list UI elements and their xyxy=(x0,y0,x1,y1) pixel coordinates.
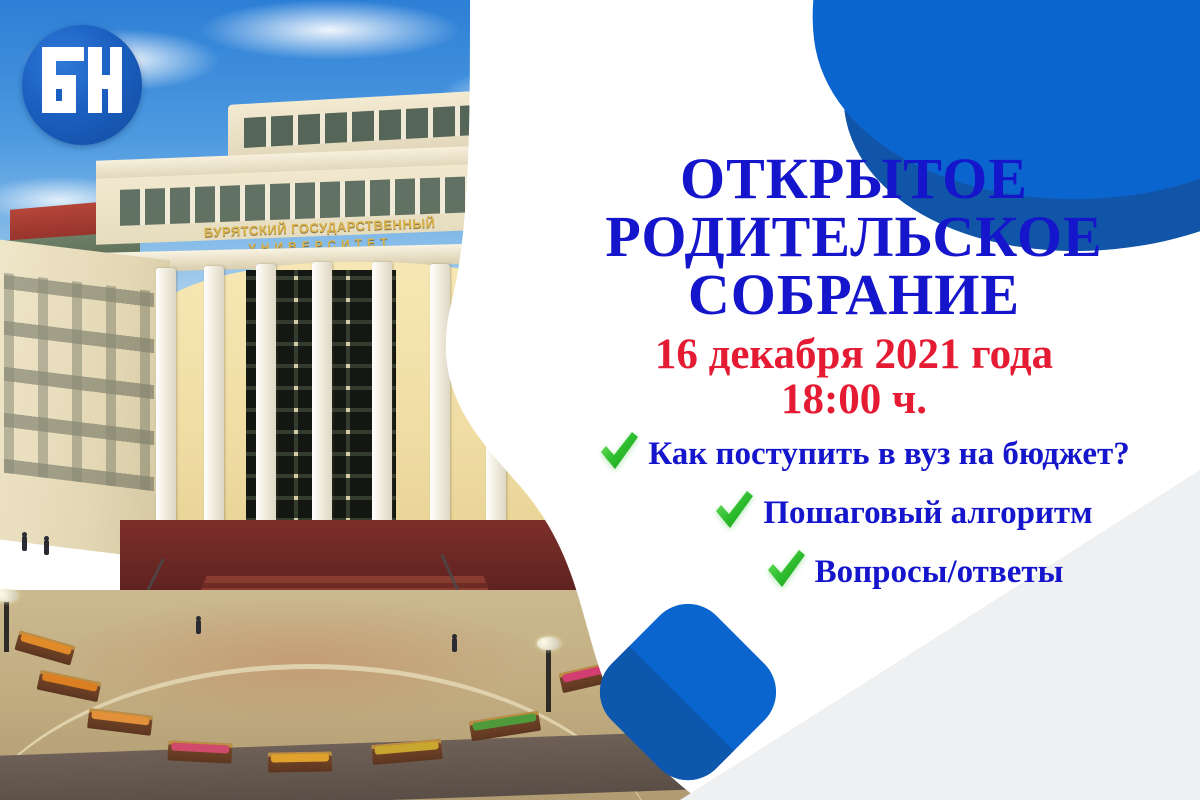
list-item-label: Как поступить в вуз на бюджет? xyxy=(648,436,1130,472)
lamp-post-2 xyxy=(546,648,551,712)
poster-canvas: БУРЯТСКИЙ ГОСУДАРСТВЕННЫЙ УНИВЕРСИТЕТ xyxy=(0,0,1200,800)
pedestrian-1 xyxy=(22,536,27,551)
flower-planter-4 xyxy=(168,740,233,763)
pedestrian-2 xyxy=(44,540,49,555)
bsu-logo[interactable] xyxy=(22,25,142,145)
column-2 xyxy=(204,266,224,528)
title-line-3: СОБРАНИЕ xyxy=(508,266,1200,324)
event-date: 16 декабря 2021 года xyxy=(508,332,1200,377)
check-icon xyxy=(711,487,757,538)
lamp-post-1 xyxy=(4,600,9,652)
pedestrian-4 xyxy=(452,638,457,652)
column-1 xyxy=(156,268,176,524)
event-time: 18:00 ч. xyxy=(508,377,1200,422)
column-3 xyxy=(256,264,276,530)
column-6 xyxy=(430,264,450,530)
flower-planter-5 xyxy=(268,751,332,772)
list-item-label: Пошаговый алгоритм xyxy=(763,495,1092,531)
list-item-label: Вопросы/ответы xyxy=(815,554,1064,590)
left-wing-windows xyxy=(4,273,154,491)
list-item: Пошаговый алгоритм xyxy=(711,487,1092,538)
building-sign-line-1: БУРЯТСКИЙ ГОСУДАРСТВЕННЫЙ xyxy=(204,215,436,240)
check-icon xyxy=(763,546,809,597)
bsu-monogram-icon xyxy=(40,45,124,125)
poster-title: ОТКРЫТОЕ РОДИТЕЛЬСКОЕ СОБРАНИЕ xyxy=(508,150,1200,324)
title-line-1: ОТКРЫТОЕ xyxy=(508,150,1200,208)
list-item: Вопросы/ответы xyxy=(763,546,1064,597)
list-item: Как поступить в вуз на бюджет? xyxy=(596,428,1130,479)
check-icon xyxy=(596,428,642,479)
pedestrian-3 xyxy=(196,620,201,634)
column-4 xyxy=(312,262,332,532)
poster-text-block: ОТКРЫТОЕ РОДИТЕЛЬСКОЕ СОБРАНИЕ 16 декабр… xyxy=(508,150,1200,597)
column-5 xyxy=(372,262,392,532)
title-line-2: РОДИТЕЛЬСКОЕ xyxy=(508,208,1200,266)
topics-list: Как поступить в вуз на бюджет? Пошаговый… xyxy=(508,428,1200,597)
